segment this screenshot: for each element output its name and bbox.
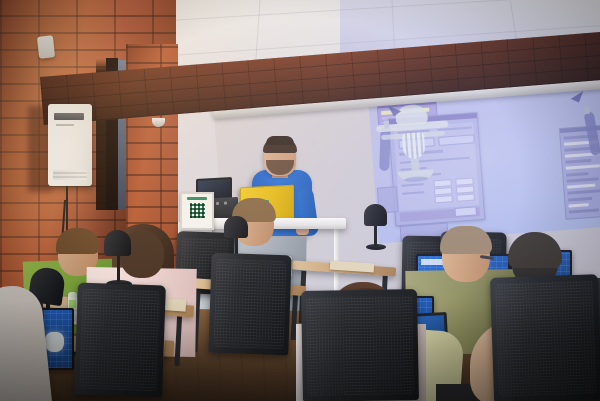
classroom-scene	[0, 0, 600, 401]
vignette-overlay	[0, 0, 600, 401]
